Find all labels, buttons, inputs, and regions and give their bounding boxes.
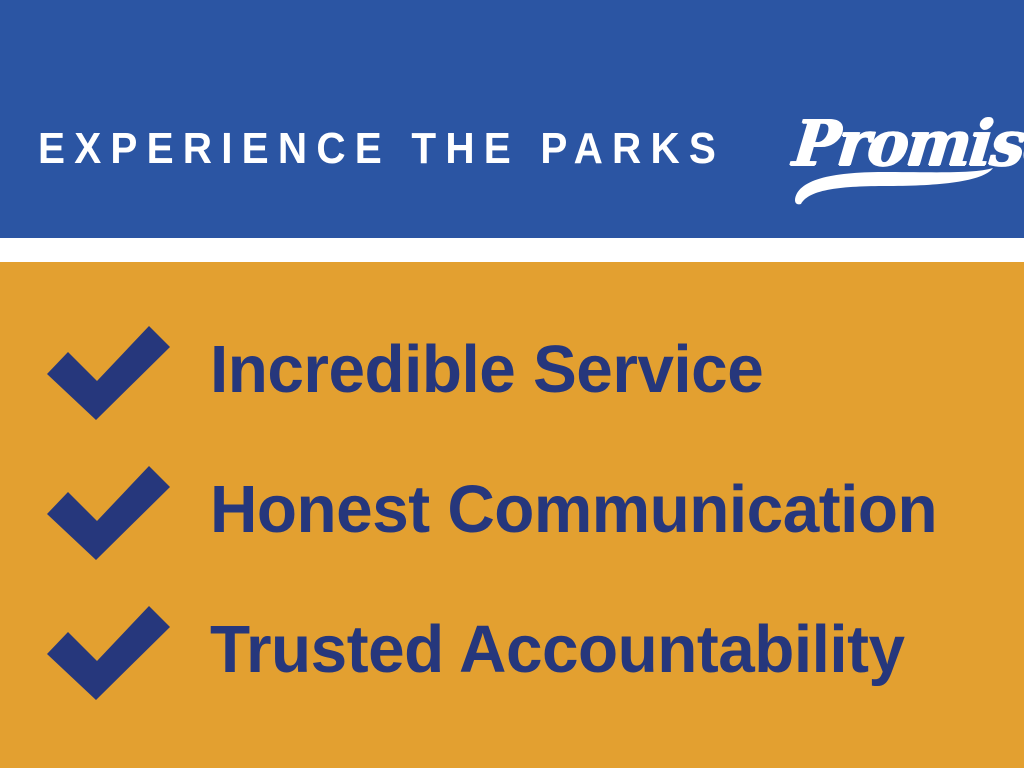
promise-poster: EXPERIENCE THE PARKS Promise Incredible … xyxy=(0,0,1024,768)
promise-panel: Incredible Service Honest Communication … xyxy=(0,262,1024,768)
checkmark-icon xyxy=(44,458,172,562)
list-item: Incredible Service xyxy=(44,310,1004,430)
headline-script-group: Promise xyxy=(791,114,1024,174)
list-item-label: Incredible Service xyxy=(210,335,763,405)
list-item-label: Honest Communication xyxy=(210,475,937,545)
header-title-group: EXPERIENCE THE PARKS Promise xyxy=(38,94,1014,174)
headline-script-word: Promise xyxy=(791,114,1024,172)
header-banner: EXPERIENCE THE PARKS Promise xyxy=(0,0,1024,238)
list-item: Honest Communication xyxy=(44,450,1004,570)
checkmark-icon xyxy=(44,598,172,702)
list-item: Trusted Accountability xyxy=(44,590,1004,710)
section-divider xyxy=(0,238,1024,262)
checkmark-icon xyxy=(44,318,172,422)
list-item-label: Trusted Accountability xyxy=(210,615,905,685)
headline-caps: EXPERIENCE THE PARKS xyxy=(38,126,725,174)
promise-list: Incredible Service Honest Communication … xyxy=(0,262,1024,768)
